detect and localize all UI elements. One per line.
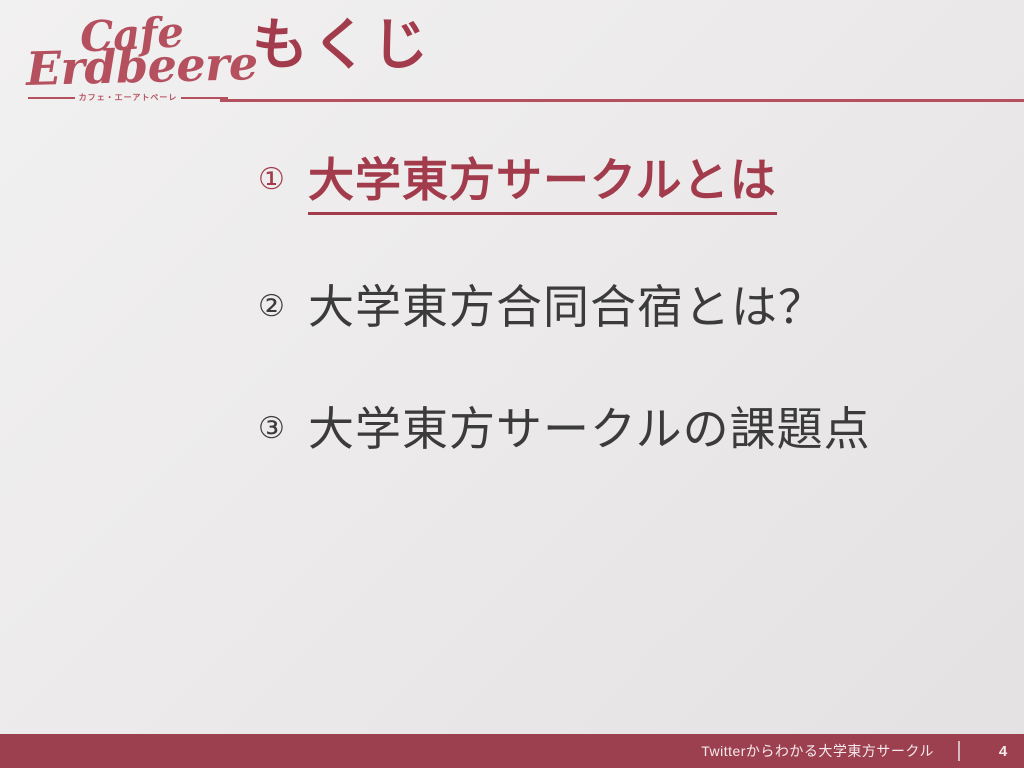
page-number: 4 (982, 743, 1024, 760)
list-item-label: 大学東方サークルとは (308, 150, 777, 215)
list-item[interactable]: ① 大学東方サークルとは (0, 150, 1024, 215)
slide-footer: Twitterからわかる大学東方サークル 4 (0, 734, 1024, 768)
list-item-label: 大学東方サークルの課題点 (308, 399, 871, 459)
footer-divider (958, 741, 960, 761)
list-item-number: ③ (258, 399, 308, 459)
list-item-number: ① (258, 150, 308, 210)
slide-header: Cafe Erdbeere カフェ・エーアトベーレ もくじ (0, 0, 1024, 108)
page-title: もくじ (252, 17, 432, 73)
footer-title: Twitterからわかる大学東方サークル (701, 741, 934, 761)
logo-subtitle-row: カフェ・エーアトベーレ (28, 92, 228, 103)
presentation-slide: Cafe Erdbeere カフェ・エーアトベーレ もくじ ① 大学東方サークル… (0, 0, 1024, 768)
list-item[interactable]: ② 大学東方合同合宿とは？ (0, 277, 1024, 337)
logo-subtitle: カフェ・エーアトベーレ (79, 92, 178, 103)
logo-line-erdbeere: Erdbeere (25, 36, 258, 96)
brand-logo: Cafe Erdbeere カフェ・エーアトベーレ (22, 8, 232, 104)
list-item-label: 大学東方合同合宿とは？ (308, 277, 825, 337)
list-item[interactable]: ③ 大学東方サークルの課題点 (0, 399, 1024, 459)
logo-rule-left (28, 97, 75, 99)
table-of-contents-list: ① 大学東方サークルとは ② 大学東方合同合宿とは？ ③ 大学東方サークルの課題… (0, 150, 1024, 521)
list-item-number: ② (258, 277, 308, 337)
header-divider-rule (220, 99, 1024, 102)
